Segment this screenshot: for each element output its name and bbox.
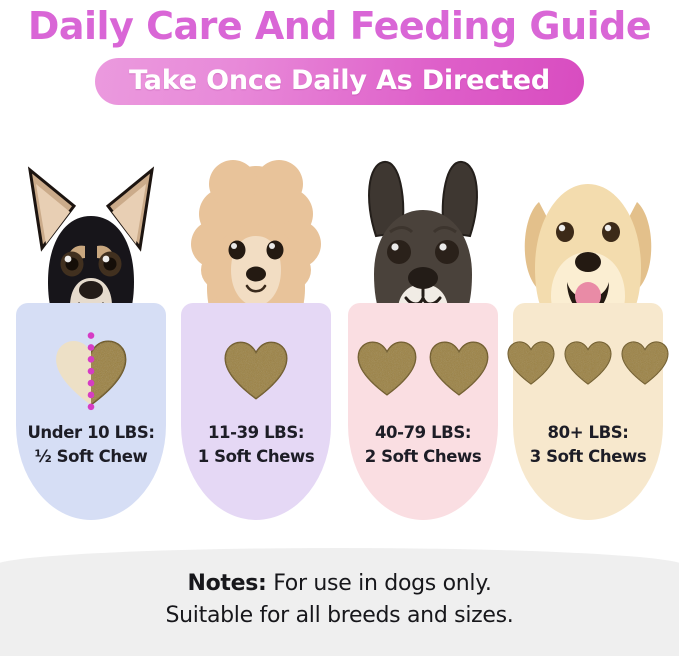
chew-group — [348, 341, 498, 396]
dose-amount-text: 1 Soft Chews — [181, 445, 331, 469]
directions-badge: Take Once Daily As Directed — [95, 58, 584, 105]
soft-chew-icon — [507, 341, 555, 385]
dosage-card-chihuahua: Under 10 LBS:½ Soft Chew — [8, 140, 174, 520]
dose-amount-text: ½ Soft Chew — [16, 445, 166, 469]
dosage-label: 80+ LBS:3 Soft Chews — [513, 421, 663, 469]
dosage-pocket: 11-39 LBS:1 Soft Chews — [181, 303, 331, 520]
soft-chew-icon — [357, 341, 417, 396]
weight-range-text: Under 10 LBS: — [16, 421, 166, 445]
soft-chew-icon — [224, 341, 288, 400]
dosage-card-golden-retriever: 80+ LBS:3 Soft Chews — [505, 140, 671, 520]
dosage-card-poodle: 11-39 LBS:1 Soft Chews — [173, 140, 339, 520]
chew-group — [16, 329, 166, 417]
notes-label: Notes: — [187, 571, 266, 596]
notes-text: Notes: For use in dogs only. Suitable fo… — [0, 568, 679, 632]
notes-panel: Notes: For use in dogs only. Suitable fo… — [0, 548, 679, 656]
chew-group — [181, 341, 331, 400]
dosage-card-french-bulldog: 40-79 LBS:2 Soft Chews — [340, 140, 506, 520]
dosage-label: 11-39 LBS:1 Soft Chews — [181, 421, 331, 469]
dose-amount-text: 2 Soft Chews — [348, 445, 498, 469]
weight-range-text: 40-79 LBS: — [348, 421, 498, 445]
feeding-guide-infographic: Daily Care And Feeding Guide Take Once D… — [0, 0, 679, 656]
dosage-card-row: Under 10 LBS:½ Soft Chew 11-39 LBS:1 S — [0, 140, 679, 520]
dosage-label: 40-79 LBS:2 Soft Chews — [348, 421, 498, 469]
badge-container: Take Once Daily As Directed — [0, 58, 679, 105]
weight-range-text: 11-39 LBS: — [181, 421, 331, 445]
page-title: Daily Care And Feeding Guide — [0, 4, 679, 48]
dosage-pocket: 40-79 LBS:2 Soft Chews — [348, 303, 498, 520]
dosage-pocket: Under 10 LBS:½ Soft Chew — [16, 303, 166, 520]
soft-chew-icon — [564, 341, 612, 385]
soft-chew-icon — [429, 341, 489, 396]
dosage-label: Under 10 LBS:½ Soft Chew — [16, 421, 166, 469]
notes-line-1: For use in dogs only. — [267, 571, 492, 596]
dosage-pocket: 80+ LBS:3 Soft Chews — [513, 303, 663, 520]
chew-group — [513, 341, 663, 385]
soft-chew-icon — [621, 341, 669, 385]
notes-line-2: Suitable for all breeds and sizes. — [0, 600, 679, 632]
dose-amount-text: 3 Soft Chews — [513, 445, 663, 469]
weight-range-text: 80+ LBS: — [513, 421, 663, 445]
half-soft-chew-icon — [55, 329, 127, 417]
